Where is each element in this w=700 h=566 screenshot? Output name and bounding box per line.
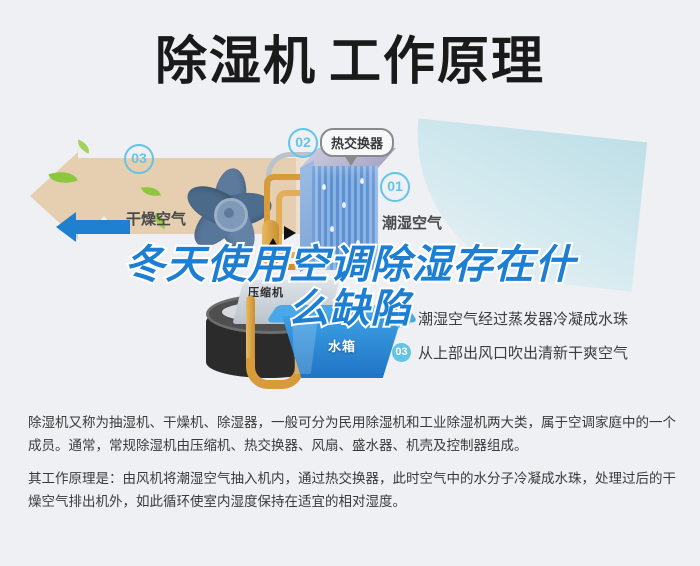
water-tank-label: 水箱 xyxy=(272,336,412,355)
water-droplet-icon xyxy=(360,178,364,184)
caption-badge: 03 xyxy=(392,343,411,362)
page-title: 除湿机工作原理 xyxy=(0,30,700,94)
caption-row: 03 从上部出风口吹出清新干爽空气 xyxy=(392,342,628,363)
article-paragraph-1: 除湿机又称为抽湿机、干燥机、除湿器，一般可分为民用除湿机和工业除湿机两大类，属于… xyxy=(28,412,676,458)
humid-air-inlet-arrow xyxy=(76,220,130,234)
humid-air-arc xyxy=(403,118,647,291)
caption-text: 潮湿空气经过蒸发器冷凝成水珠 xyxy=(418,308,628,329)
heat-exchanger-fins xyxy=(312,166,378,270)
article-paragraph-2: 其工作原理是：由风机将潮湿空气抽入机内，通过热交换器，此时空气中的水分子冷凝成水… xyxy=(28,468,676,514)
title-part-two: 工作原理 xyxy=(329,33,545,91)
diagram-badge-02: 02 xyxy=(288,128,318,158)
water-droplet-icon xyxy=(322,184,326,190)
heat-exchanger-bubble: 热交换器 xyxy=(320,128,394,157)
diagram-badge-03: 03 xyxy=(124,144,154,174)
caption-text: 从上部出风口吹出清新干爽空气 xyxy=(418,342,628,363)
diagram-badge-01: 01 xyxy=(380,172,410,202)
water-droplet-icon xyxy=(330,226,334,232)
flow-arrow-right-icon xyxy=(284,226,296,240)
caption-badge: 02 xyxy=(392,309,411,328)
diagram-stage: 03 干燥空气 xyxy=(0,120,700,400)
caption-row: 02 潮湿空气经过蒸发器冷凝成水珠 xyxy=(392,308,628,329)
humid-air-label: 潮湿空气 xyxy=(382,212,442,233)
flow-arrow-up-icon xyxy=(266,238,280,250)
title-part-one: 除湿机 xyxy=(155,32,317,92)
water-tank: 水箱 xyxy=(272,300,412,384)
fan-hub xyxy=(214,198,248,232)
infographic-image: 除湿机工作原理 03 干燥空气 xyxy=(0,0,700,400)
water-droplet-icon xyxy=(356,240,360,246)
water-droplet-icon xyxy=(342,202,346,208)
article-body: 除湿机又称为抽湿机、干燥机、除湿器，一般可分为民用除湿机和工业除湿机两大类，属于… xyxy=(28,412,676,514)
